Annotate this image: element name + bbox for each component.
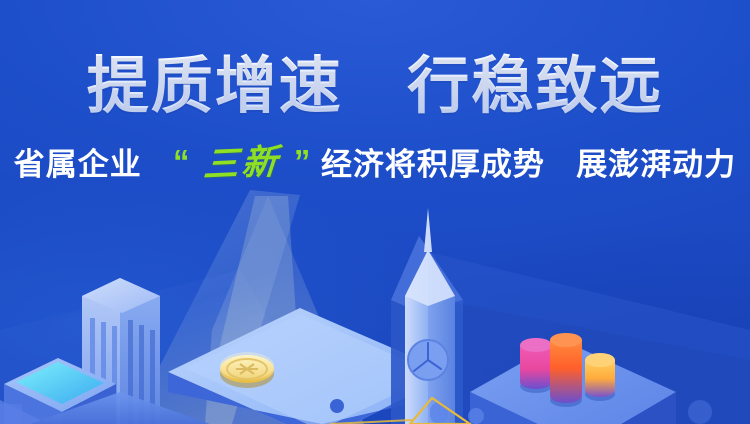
gold-coin	[220, 352, 274, 388]
quote-close: ”	[294, 143, 312, 181]
bar-2	[550, 333, 582, 403]
subtitle-prefix: 省属企业	[14, 147, 142, 182]
title-part-1: 提质增速	[87, 52, 343, 121]
clock-tower	[391, 208, 463, 424]
bar-3	[585, 353, 615, 397]
title-part-2: 行稳致远	[407, 52, 663, 121]
bar-1	[520, 338, 552, 389]
subtitle-highlight: 三新	[198, 133, 286, 188]
subtitle-middle: 经济将积厚成势	[321, 147, 545, 182]
page-subtitle: 省属企业 “ 三新 ” 经济将积厚成势 展澎湃动力	[0, 119, 750, 186]
phone-home-button	[330, 399, 344, 413]
subtitle-suffix: 展澎湃动力	[576, 147, 736, 182]
quote-open: “	[173, 143, 191, 181]
headline-block: 提质增速 行稳致远 省属企业 “ 三新 ” 经济将积厚成势 展澎湃动力	[0, 0, 750, 186]
page-title: 提质增速 行稳致远	[0, 0, 750, 119]
promo-banner: 提质增速 行稳致远 省属企业 “ 三新 ” 经济将积厚成势 展澎湃动力	[0, 0, 750, 424]
